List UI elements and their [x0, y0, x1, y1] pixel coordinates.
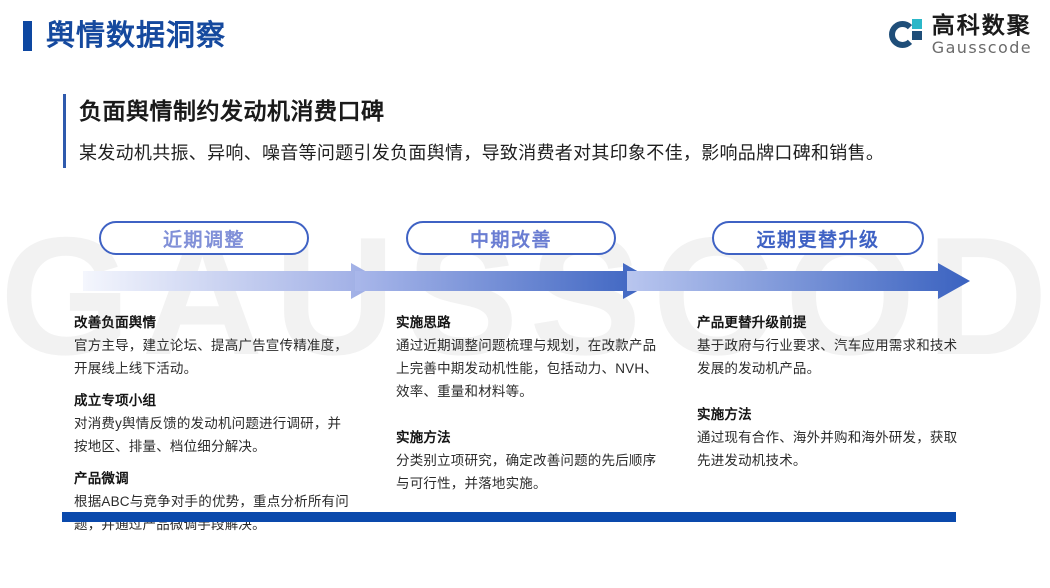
intro-block: 负面舆情制约发动机消费口碑 某发动机共振、异响、噪音等问题引发负面舆情，导致消费… — [63, 94, 993, 168]
block-heading: 改善负面舆情 — [74, 312, 354, 333]
block-body: 官方主导，建立论坛、提高广告宣传精准度，开展线上线下活动。 — [74, 334, 354, 380]
logo-name-cn: 高科数聚 — [932, 14, 1032, 37]
content-block: 产品更替升级前提 基于政府与行业要求、汽车应用需求和技术发展的发动机产品。 — [697, 312, 969, 380]
page-title: 舆情数据洞察 — [46, 15, 226, 57]
block-body: 通过现有合作、海外并购和海外研发，获取先进发动机技术。 — [697, 426, 969, 472]
logo-bar-shape — [912, 31, 922, 40]
logo-name-en: Gausscode — [932, 40, 1032, 56]
column-mid-term: 实施思路 通过近期调整问题梳理与规划，在改款产品上完善中期发动机性能，包括动力、… — [396, 312, 666, 519]
content-block: 成立专项小组 对消费y舆情反馈的发动机问题进行调研，并按地区、排量、档位细分解决… — [74, 390, 354, 458]
block-body: 对消费y舆情反馈的发动机问题进行调研，并按地区、排量、档位细分解决。 — [74, 412, 354, 458]
footer-rule — [62, 512, 956, 522]
content-block: 产品微调 根据ABC与竞争对手的优势，重点分析所有问题，并通过产品微调手段解决。 — [74, 468, 354, 536]
block-body: 分类别立项研究，确定改善问题的先后顺序与可行性，并落地实施。 — [396, 449, 666, 495]
block-heading: 实施思路 — [396, 312, 666, 333]
intro-title: 负面舆情制约发动机消费口碑 — [79, 94, 993, 128]
block-body: 基于政府与行业要求、汽车应用需求和技术发展的发动机产品。 — [697, 334, 969, 380]
brand-logo: 高科数聚 Gausscode — [889, 14, 1032, 56]
block-heading: 实施方法 — [697, 404, 969, 425]
content-block: 实施方法 通过现有合作、海外并购和海外研发，获取先进发动机技术。 — [697, 404, 969, 472]
slide-root: GAUSSCODE 舆情数据洞察 高科数聚 Gausscode 负面舆情制约发动… — [0, 0, 1050, 588]
content-block: 实施思路 通过近期调整问题梳理与规划，在改款产品上完善中期发动机性能，包括动力、… — [396, 312, 666, 403]
block-heading: 产品更替升级前提 — [697, 312, 969, 333]
gausscode-logo-icon — [889, 18, 923, 52]
block-heading: 成立专项小组 — [74, 390, 354, 411]
logo-wordmark: 高科数聚 Gausscode — [932, 14, 1032, 56]
block-heading: 实施方法 — [396, 427, 666, 448]
content-block: 改善负面舆情 官方主导，建立论坛、提高广告宣传精准度，开展线上线下活动。 — [74, 312, 354, 380]
stage-pill-group: 近期调整 中期改善 远期更替升级 — [0, 221, 1050, 255]
column-long-term: 产品更替升级前提 基于政府与行业要求、汽车应用需求和技术发展的发动机产品。 实施… — [697, 312, 969, 496]
header-accent-bar — [23, 21, 32, 51]
stage-pill-near-term[interactable]: 近期调整 — [99, 221, 309, 255]
stage-pill-long-term[interactable]: 远期更替升级 — [712, 221, 924, 255]
timeline-arrow — [83, 263, 970, 299]
block-heading: 产品微调 — [74, 468, 354, 489]
content-block: 实施方法 分类别立项研究，确定改善问题的先后顺序与可行性，并落地实施。 — [396, 427, 666, 495]
stage-pill-mid-term[interactable]: 中期改善 — [406, 221, 616, 255]
block-body: 通过近期调整问题梳理与规划，在改款产品上完善中期发动机性能，包括动力、NVH、效… — [396, 334, 666, 403]
intro-subtitle: 某发动机共振、异响、噪音等问题引发负面舆情，导致消费者对其印象不佳，影响品牌口碑… — [79, 138, 993, 168]
logo-square-shape — [912, 19, 922, 29]
column-near-term: 改善负面舆情 官方主导，建立论坛、提高广告宣传精准度，开展线上线下活动。 成立专… — [74, 312, 354, 536]
